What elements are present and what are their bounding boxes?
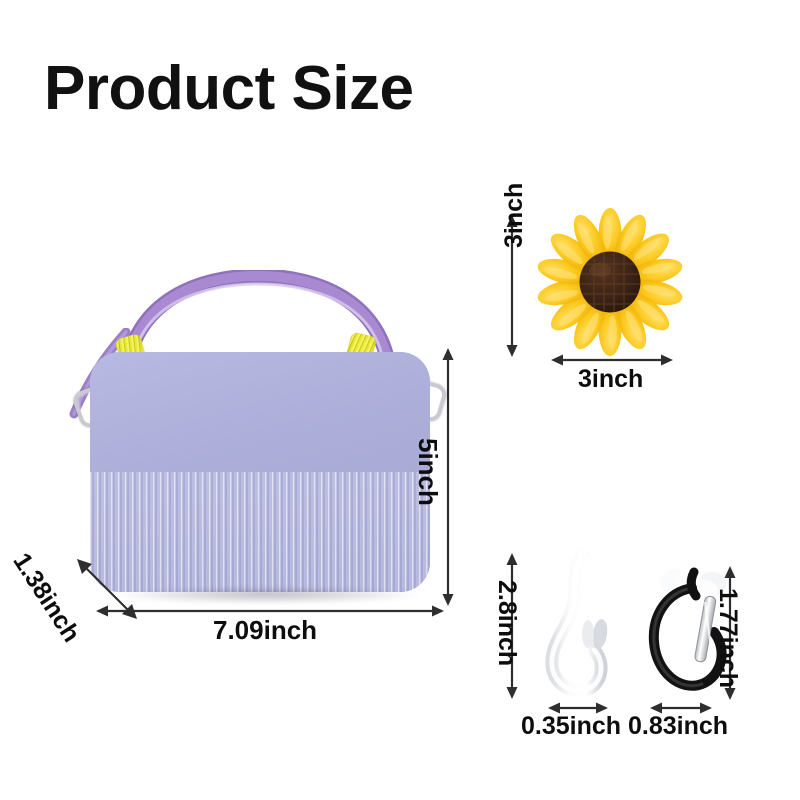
white-hook-illustration bbox=[542, 548, 634, 700]
bag-drop-shadow bbox=[112, 588, 422, 604]
bag-width-label: 7.09inch bbox=[213, 615, 317, 646]
page-title: Product Size bbox=[44, 58, 414, 120]
flower-width-label: 3inch bbox=[578, 365, 643, 394]
bag-depth-arrow bbox=[74, 556, 140, 622]
bag-flap bbox=[90, 352, 430, 473]
hook-height-label: 2.8inch bbox=[492, 580, 521, 666]
flower-height-label: 3inch bbox=[500, 183, 529, 248]
hook-width-label: 0.35inch bbox=[521, 712, 621, 741]
product-size-infographic: Product Size bbox=[0, 0, 800, 800]
carabiner-width-label: 0.83inch bbox=[628, 712, 728, 741]
sunflower-charm-illustration bbox=[534, 206, 686, 358]
bag-height-label: 5inch bbox=[412, 438, 443, 506]
bag-body bbox=[90, 352, 430, 592]
bag-ribbed-section bbox=[90, 472, 430, 592]
carabiner-height-label: 1.77inch bbox=[713, 588, 742, 688]
